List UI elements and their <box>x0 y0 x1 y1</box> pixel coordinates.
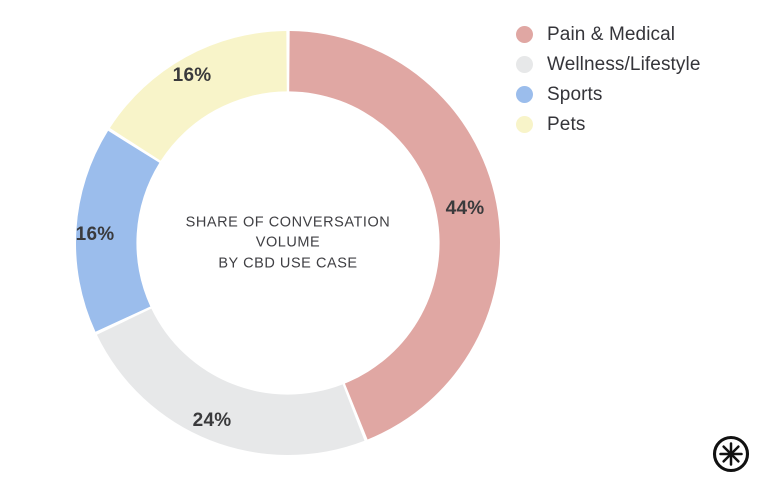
legend-label-wellness-lifestyle: Wellness/Lifestyle <box>547 54 701 76</box>
legend-swatch-icon-wellness-lifestyle <box>516 56 533 73</box>
legend-swatch-icon-pets <box>516 116 533 133</box>
chart-legend: Pain & Medical Wellness/Lifestyle Sports… <box>516 20 752 140</box>
legend-label-pets: Pets <box>547 114 585 136</box>
legend-swatch-icon-pain-medical <box>516 26 533 43</box>
legend-label-sports: Sports <box>547 84 603 106</box>
donut-slice[interactable] <box>110 31 287 161</box>
center-title-line-1: SHARE OF CONVERSATION VOLUME <box>153 213 423 254</box>
chart-canvas: 44%24%16%16% SHARE OF CONVERSATION VOLUM… <box>0 0 768 483</box>
legend-item-wellness-lifestyle[interactable]: Wellness/Lifestyle <box>516 50 752 79</box>
legend-label-pain-medical: Pain & Medical <box>547 24 675 46</box>
asterisk-in-circle-icon <box>711 434 751 474</box>
center-title-line-2: BY CBD USE CASE <box>153 253 423 273</box>
asterisk-in-circle-logo <box>711 434 751 474</box>
chart-center-title: SHARE OF CONVERSATION VOLUME BY CBD USE … <box>153 213 423 274</box>
legend-item-pain-medical[interactable]: Pain & Medical <box>516 20 752 49</box>
legend-item-pets[interactable]: Pets <box>516 110 752 139</box>
legend-item-sports[interactable]: Sports <box>516 80 752 109</box>
donut-slice[interactable] <box>76 131 159 332</box>
donut-slice[interactable] <box>97 309 365 455</box>
legend-swatch-icon-sports <box>516 86 533 103</box>
